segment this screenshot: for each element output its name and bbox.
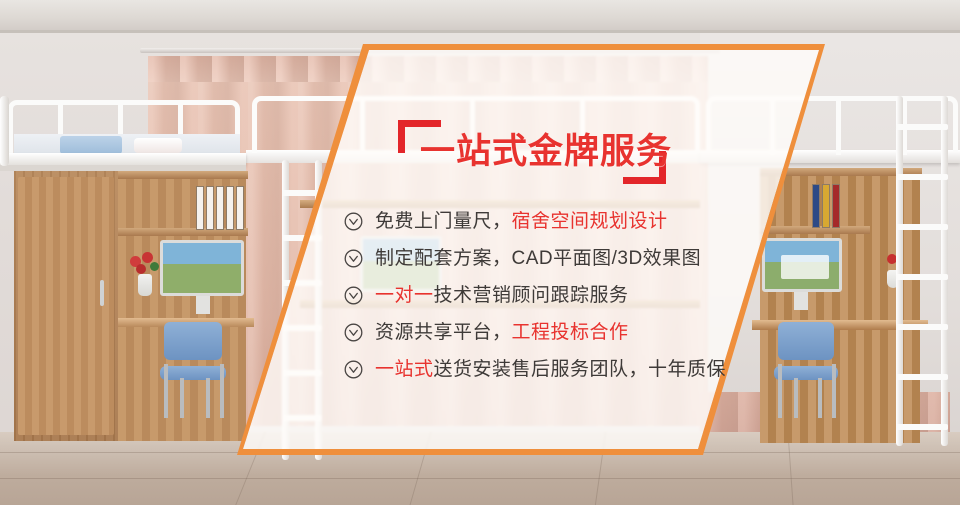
circle-chevron-down-icon	[340, 246, 366, 272]
page-title: 一站式金牌服务	[420, 130, 648, 174]
service-list-item-text: 免费上门量尺，宿舍空间规划设计	[375, 209, 668, 235]
title-block: 一站式金牌服务	[398, 120, 666, 184]
circle-chevron-down-icon	[340, 357, 366, 383]
service-list: 免费上门量尺，宿舍空间规划设计制定配套方案，CAD平面图/3D效果图一对一技术营…	[340, 203, 740, 388]
plain-text: 送货安装售后服务团队，十年质保	[434, 359, 727, 380]
service-list-item-text: 一对一技术营销顾问跟踪服务	[375, 283, 629, 309]
plain-text: 免费上门量尺，	[375, 211, 512, 232]
plain-text: 制定配套方案，CAD平面图/3D效果图	[375, 248, 701, 269]
highlighted-text: 一站式	[375, 359, 434, 380]
service-list-item: 免费上门量尺，宿舍空间规划设计	[340, 203, 740, 240]
service-list-item: 资源共享平台，工程投标合作	[340, 314, 740, 351]
circle-chevron-down-icon	[340, 320, 366, 346]
service-list-item-text: 资源共享平台，工程投标合作	[375, 320, 629, 346]
highlighted-text: 工程投标合作	[512, 322, 629, 343]
highlighted-text: 宿舍空间规划设计	[512, 211, 668, 232]
service-list-item: 制定配套方案，CAD平面图/3D效果图	[340, 240, 740, 277]
circle-chevron-down-icon	[340, 209, 366, 235]
circle-chevron-down-icon	[340, 283, 366, 309]
highlighted-text: 一对一	[375, 285, 434, 306]
plain-text: 技术营销顾问跟踪服务	[434, 285, 629, 306]
service-list-item: 一站式送货安装售后服务团队，十年质保	[340, 351, 740, 388]
promo-banner: 一站式金牌服务 免费上门量尺，宿舍空间规划设计制定配套方案，CAD平面图/3D效…	[0, 0, 960, 505]
service-list-item-text: 制定配套方案，CAD平面图/3D效果图	[375, 246, 701, 272]
service-list-item-text: 一站式送货安装售后服务团队，十年质保	[375, 357, 726, 383]
plain-text: 资源共享平台，	[375, 322, 512, 343]
service-list-item: 一对一技术营销顾问跟踪服务	[340, 277, 740, 314]
banner-content: 一站式金牌服务 免费上门量尺，宿舍空间规划设计制定配套方案，CAD平面图/3D效…	[0, 0, 960, 505]
